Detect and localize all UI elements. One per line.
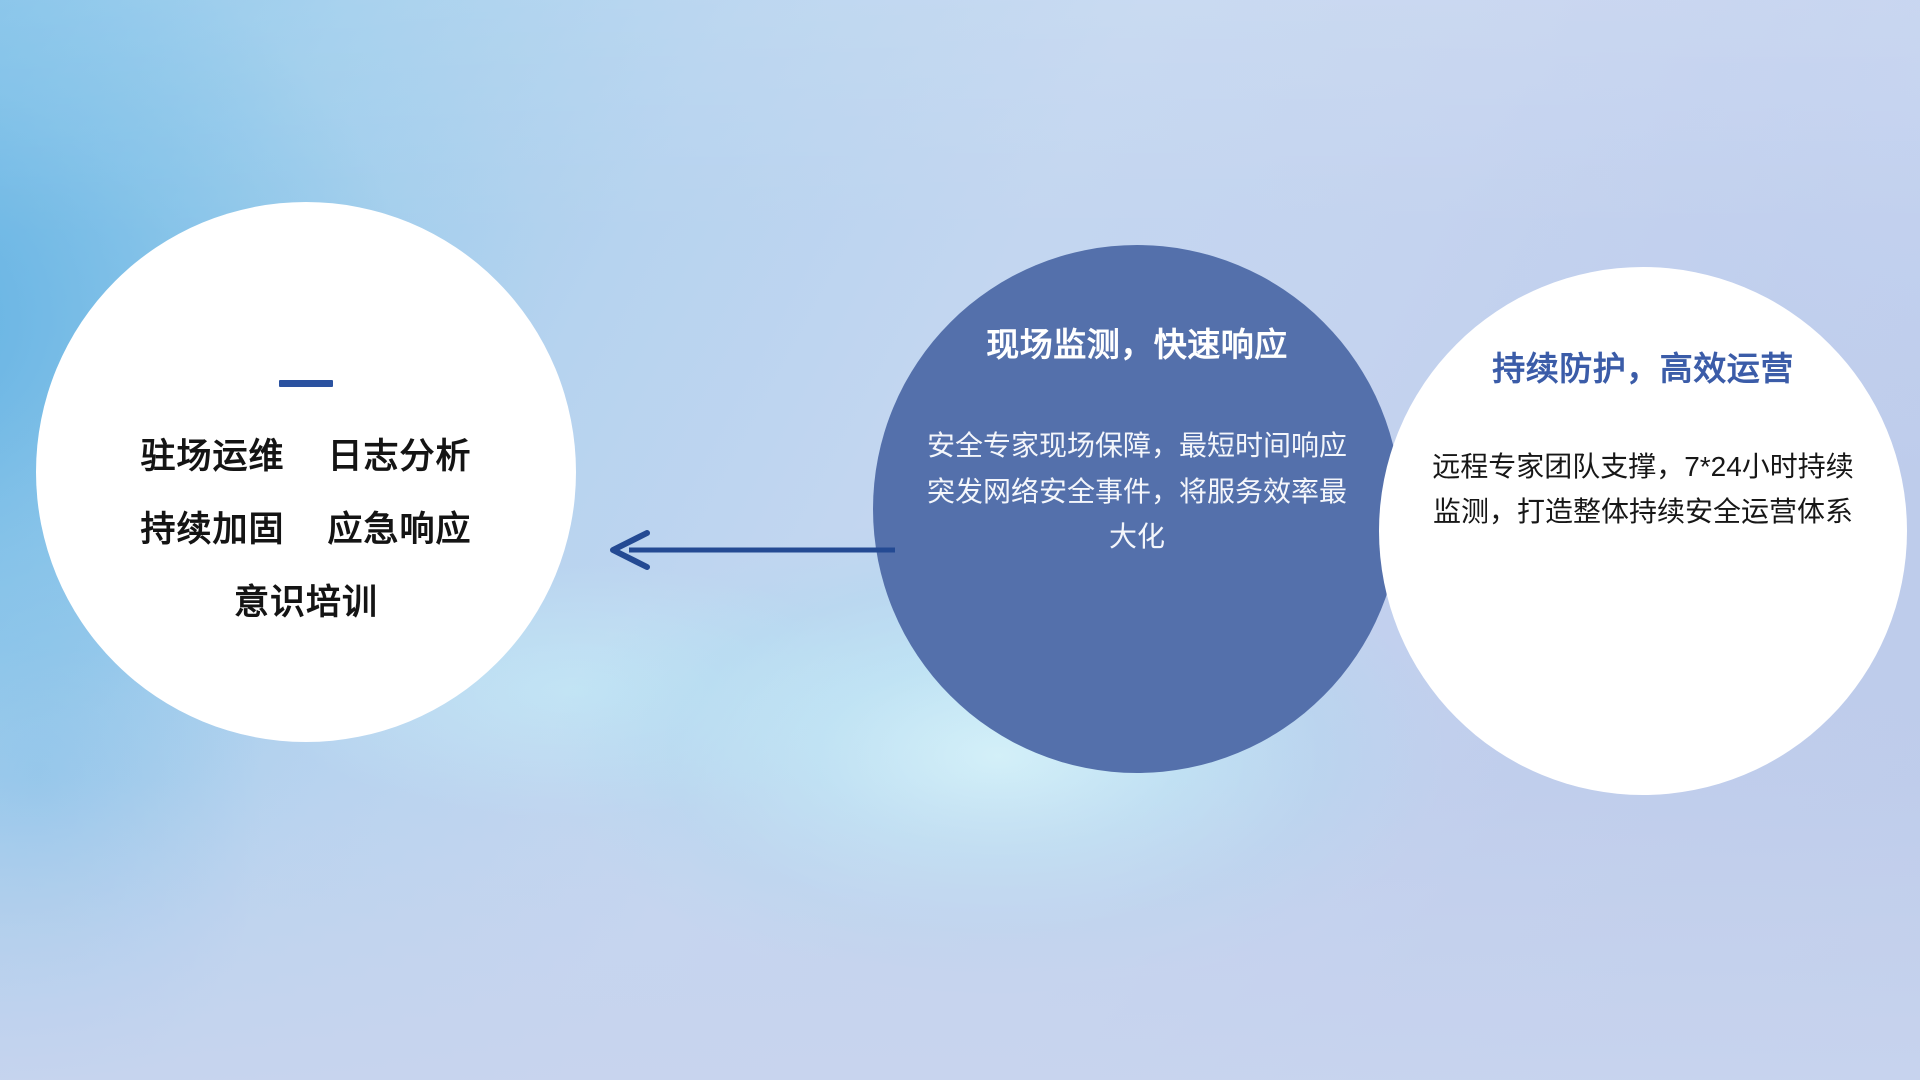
right-circle-content: 持续防护，高效运营 远程专家团队支撑，7*24小时持续监测，打造整体持续安全运营… xyxy=(1397,351,1889,535)
right-circle-body: 远程专家团队支撑，7*24小时持续监测，打造整体持续安全运营体系 xyxy=(1397,445,1889,535)
right-circle-title: 持续防护，高效运营 xyxy=(1397,351,1889,387)
left-circle-line-1: 驻场运维 日志分析 xyxy=(36,439,576,474)
middle-onsite-circle: 现场监测，快速响应 安全专家现场保障，最短时间响应突发网络安全事件，将服务效率最… xyxy=(873,245,1401,773)
slide-canvas: 驻场运维 日志分析 持续加固 应急响应 意识培训 现场监测，快速响应 安全专家现… xyxy=(0,0,1920,1080)
divider-dash-icon xyxy=(279,380,333,387)
left-circle-content: 驻场运维 日志分析 持续加固 应急响应 意识培训 xyxy=(36,380,576,620)
middle-circle-title: 现场监测，快速响应 xyxy=(897,327,1377,363)
right-operations-circle: 持续防护，高效运营 远程专家团队支撑，7*24小时持续监测，打造整体持续安全运营… xyxy=(1379,267,1907,795)
left-circle-line-3: 意识培训 xyxy=(36,585,576,620)
middle-circle-content: 现场监测，快速响应 安全专家现场保障，最短时间响应突发网络安全事件，将服务效率最… xyxy=(897,327,1377,559)
middle-circle-body: 安全专家现场保障，最短时间响应突发网络安全事件，将服务效率最大化 xyxy=(897,423,1377,559)
flow-arrow-left-icon xyxy=(607,520,897,580)
left-capability-circle: 驻场运维 日志分析 持续加固 应急响应 意识培训 xyxy=(36,202,576,742)
left-circle-line-2: 持续加固 应急响应 xyxy=(36,512,576,547)
